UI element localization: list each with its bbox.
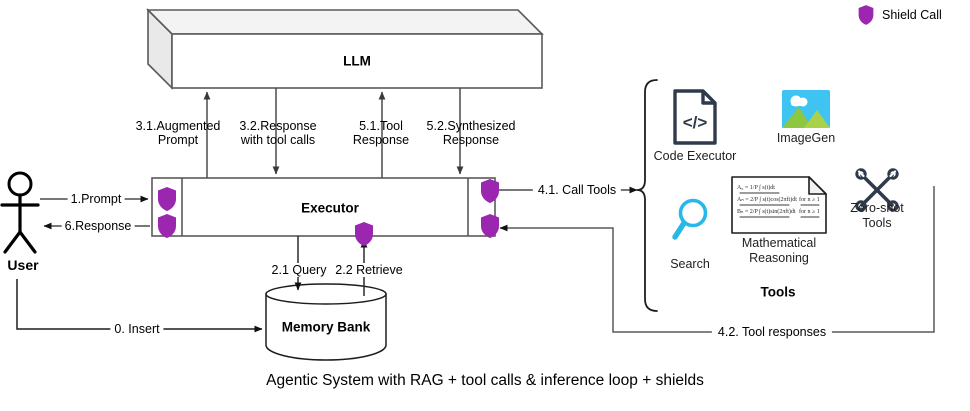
tool-label-mathematical-reasoning: MathematicalReasoning — [742, 236, 816, 265]
shield-icon-executor-out-top — [479, 178, 501, 204]
edge-label-3-2: 3.2.Responsewith tool calls — [239, 119, 316, 147]
edge-label-4-1-call-tools: 4.1. Call Tools — [533, 183, 621, 197]
diagram-canvas: LLM Executor Memory Bank User Tools 3.1.… — [0, 0, 970, 411]
svg-text:for n ≥ 1: for n ≥ 1 — [799, 208, 820, 215]
tool-label-search: Search — [670, 257, 710, 272]
code-document-icon[interactable]: </> — [672, 88, 718, 146]
edge-label-1-prompt: 1.Prompt — [68, 192, 125, 206]
svg-text:Aₙ = 2/P ∫ s(t)cos(2πft)dt: Aₙ = 2/P ∫ s(t)cos(2πft)dt — [737, 196, 797, 203]
tools-group-label: Tools — [761, 285, 796, 300]
image-picture-icon[interactable] — [782, 90, 830, 128]
edge-label-5-1: 5.1.ToolResponse — [353, 119, 409, 147]
edge-label-3-1: 3.1.AugmentedPrompt — [136, 119, 221, 147]
memory-bank-label: Memory Bank — [282, 320, 371, 335]
edge-label-2-2-retrieve: 2.2 Retrieve — [333, 263, 404, 277]
user-figure-icon — [2, 173, 38, 252]
shield-icon-executor-in-top — [156, 186, 178, 212]
tool-label-zero-shot-tools: Zero-shotTools — [850, 201, 904, 230]
magnifier-icon[interactable] — [671, 196, 713, 242]
edge-label-0-insert: 0. Insert — [110, 322, 163, 336]
tool-label-imagegen: ImageGen — [777, 131, 835, 146]
svg-text:A₀ = 1/P ∫ s(t)dt: A₀ = 1/P ∫ s(t)dt — [737, 184, 775, 191]
edge-label-4-2-tool-responses: 4.2. Tool responses — [712, 325, 832, 339]
svg-text:</>: </> — [683, 113, 708, 132]
edge-label-5-2: 5.2.SynthesizedResponse — [427, 119, 516, 147]
math-document-icon[interactable]: A₀ = 1/P ∫ s(t)dt Aₙ = 2/P ∫ s(t)cos(2πf… — [731, 176, 827, 234]
diagram-caption: Agentic System with RAG + tool calls & i… — [266, 372, 704, 390]
executor-label: Executor — [301, 201, 359, 216]
legend-shield-call-label: Shield Call — [882, 8, 942, 22]
tools-brace — [637, 80, 657, 311]
llm-node-shape — [148, 10, 542, 88]
shield-icon-executor-in-bottom — [156, 213, 178, 239]
tool-label-code-executor: Code Executor — [654, 149, 737, 164]
svg-text:for n ≥ 1: for n ≥ 1 — [799, 196, 820, 203]
svg-text:Bₙ = 2/P ∫ s(t)sin(2πft)dt: Bₙ = 2/P ∫ s(t)sin(2πft)dt — [737, 208, 796, 215]
llm-label: LLM — [343, 54, 371, 69]
edge-label-2-1-query: 2.1 Query — [270, 263, 329, 277]
user-label: User — [7, 257, 38, 273]
shield-icon-legend — [857, 4, 875, 26]
shield-icon-executor-memory — [353, 221, 375, 247]
edge-label-6-response: 6.Response — [62, 219, 135, 233]
shield-icon-executor-out-bottom — [479, 213, 501, 239]
